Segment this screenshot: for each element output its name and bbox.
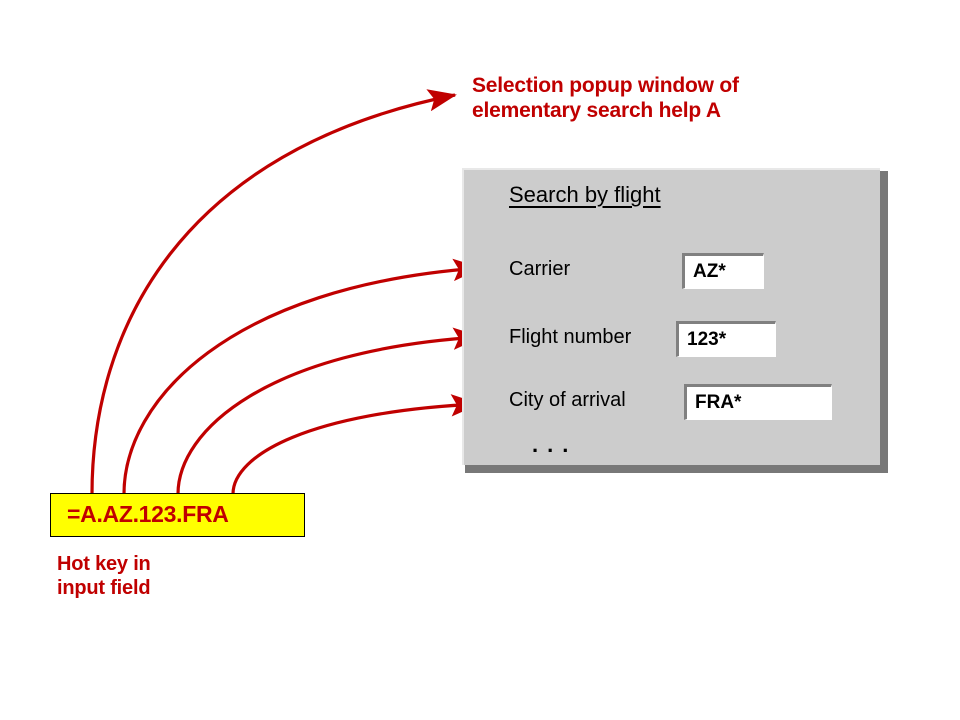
input-city-of-arrival[interactable]: FRA* (684, 384, 832, 420)
arrow-to-flight-number (178, 337, 480, 494)
callout-selection-popup: Selection popup window of elementary sea… (472, 74, 739, 124)
input-flight-number[interactable]: 123* (676, 321, 776, 357)
label-carrier: Carrier (509, 258, 570, 281)
callout-hot-key: Hot key in input field (57, 553, 151, 600)
label-flight-number: Flight number (509, 326, 631, 349)
field-row: Flight number 123* (464, 322, 882, 366)
diagram-canvas: Selection popup window of elementary sea… (0, 0, 960, 720)
dialog-frame: Search by flight Carrier AZ* Flight numb… (462, 168, 880, 465)
label-city-of-arrival: City of arrival (509, 389, 626, 412)
dialog-shadow-bottom (465, 465, 888, 473)
dialog-title: Search by flight (509, 182, 661, 208)
input-city-of-arrival-value: FRA* (695, 392, 741, 414)
hot-key-value: =A.AZ.123.FRA (67, 501, 229, 528)
input-carrier-value: AZ* (693, 261, 726, 283)
field-row: City of arrival FRA* (464, 385, 882, 429)
hot-key-input-box[interactable]: =A.AZ.123.FRA (50, 493, 305, 537)
input-flight-number-value: 123* (687, 329, 726, 351)
search-help-popup-window: Search by flight Carrier AZ* Flight numb… (462, 168, 888, 473)
input-carrier[interactable]: AZ* (682, 253, 764, 289)
arrow-to-city (233, 404, 478, 494)
more-fields-ellipsis: ... (532, 432, 577, 458)
arrow-to-popup-title (92, 95, 455, 494)
field-row: Carrier AZ* (464, 254, 882, 298)
arrow-to-carrier (124, 268, 480, 494)
